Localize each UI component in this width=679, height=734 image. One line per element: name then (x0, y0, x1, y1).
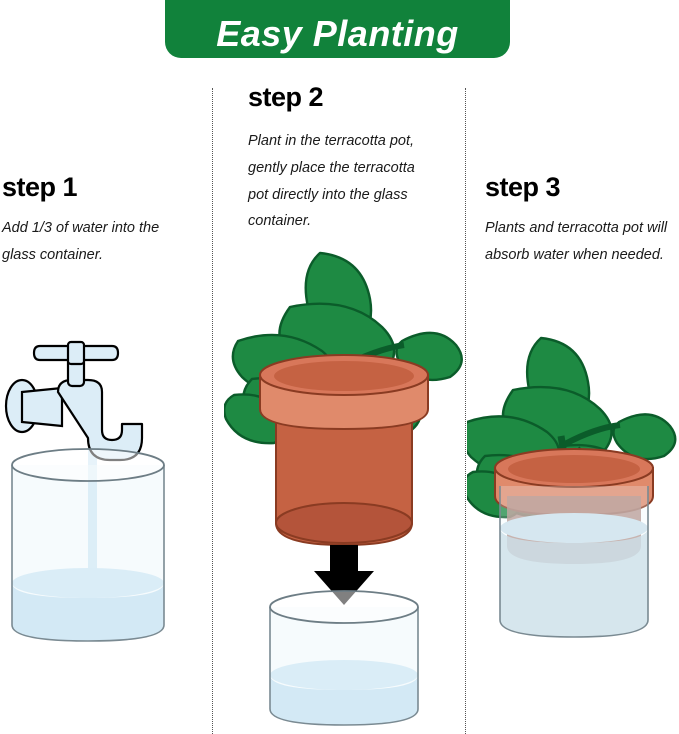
infographic-page: Easy Planting step 1 Add 1/3 of water in… (0, 0, 679, 734)
glass-body (270, 607, 418, 725)
glass-container (270, 591, 418, 725)
step-2-heading: step 2 (248, 82, 323, 113)
step-1-body: Add 1/3 of water into the glass containe… (2, 215, 192, 269)
step-3-body: Plants and terracotta pot will absorb wa… (485, 215, 675, 269)
step-2-body: Plant in the terracotta pot, gently plac… (248, 128, 438, 235)
step-1-heading: step 1 (2, 172, 77, 203)
step-column-2: step 2 Plant in the terracotta pot, gent… (212, 0, 465, 734)
step-1-illustration (0, 330, 200, 660)
glass-rim (270, 591, 418, 623)
step-3-illustration (467, 310, 679, 670)
pot-soil-opening (508, 455, 640, 483)
glass-rim (12, 449, 164, 481)
pot-soil-opening (274, 361, 414, 391)
glass-body (12, 465, 164, 641)
glass-container (12, 449, 164, 641)
faucet-spout (58, 380, 142, 460)
step-2-illustration (224, 245, 464, 734)
terracotta-pot (260, 355, 428, 545)
glass-body (500, 486, 648, 637)
glass-container (500, 486, 648, 637)
step-column-1: step 1 Add 1/3 of water into the glass c… (0, 0, 212, 734)
faucet-body (22, 388, 62, 426)
step-3-heading: step 3 (485, 172, 560, 203)
step-column-3: step 3 Plants and terracotta pot will ab… (465, 0, 679, 734)
faucet-handle-hub (68, 342, 84, 364)
pot-base-shade (276, 503, 412, 543)
